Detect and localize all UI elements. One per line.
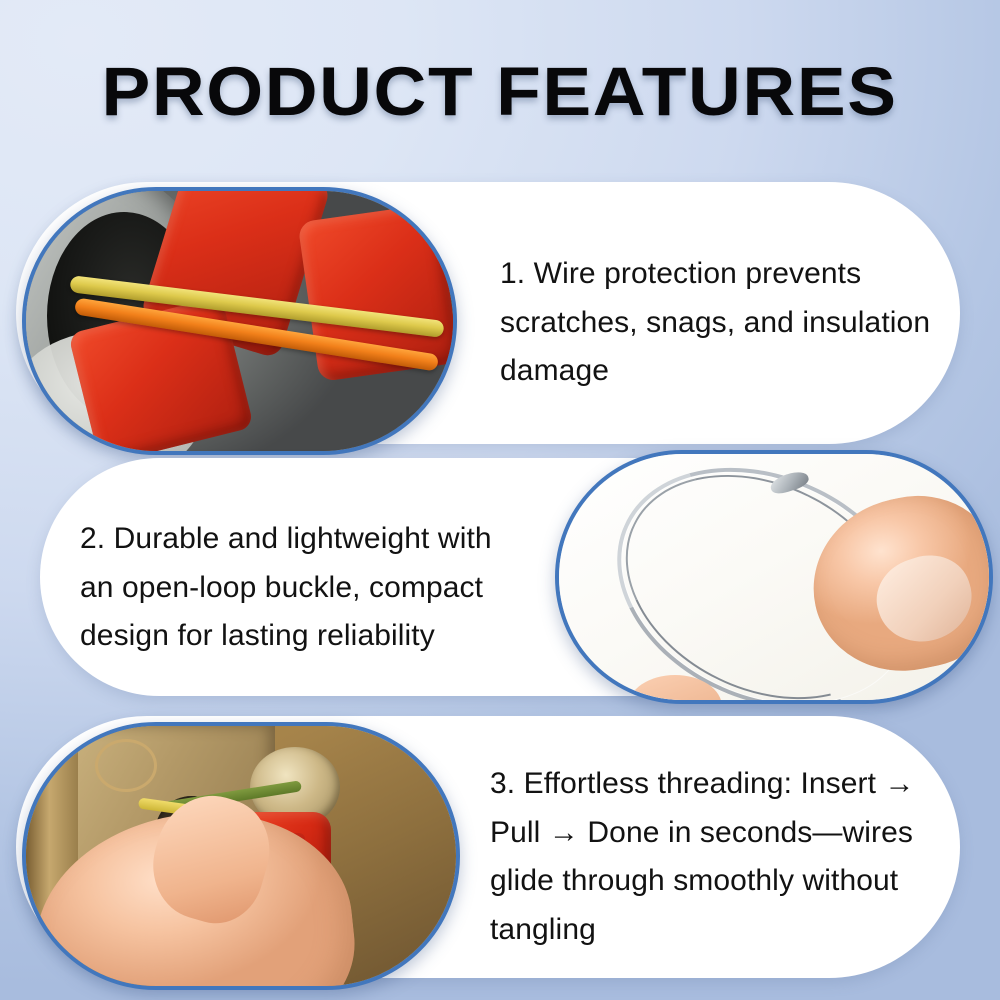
feature-text-3: 3. Effortless threading: Insert → Pull →…	[490, 760, 948, 954]
photo-scene-wire-nuts	[26, 191, 453, 451]
feature-image-3	[22, 722, 460, 990]
product-features-poster: PRODUCT FEATURES 1. Wire protection prev…	[0, 0, 1000, 1000]
feature-image-2	[555, 450, 993, 704]
feature-text-1: 1. Wire protection prevents scratches, s…	[500, 250, 952, 396]
photo-scene-threading-demo	[26, 726, 456, 986]
feature-row-3: 3. Effortless threading: Insert → Pull →…	[0, 716, 1000, 978]
page-title: PRODUCT FEATURES	[102, 52, 898, 131]
feature-row-2: 2. Durable and lightweight with an open-…	[0, 458, 1000, 696]
feature-row-1: 1. Wire protection prevents scratches, s…	[0, 182, 1000, 444]
feature-image-1	[22, 187, 457, 455]
metal-ring-detail	[95, 739, 157, 792]
photo-scene-open-loop-tool	[559, 454, 989, 700]
feature-text-2: 2. Durable and lightweight with an open-…	[80, 515, 528, 661]
page-title-container: PRODUCT FEATURES	[0, 52, 1000, 131]
